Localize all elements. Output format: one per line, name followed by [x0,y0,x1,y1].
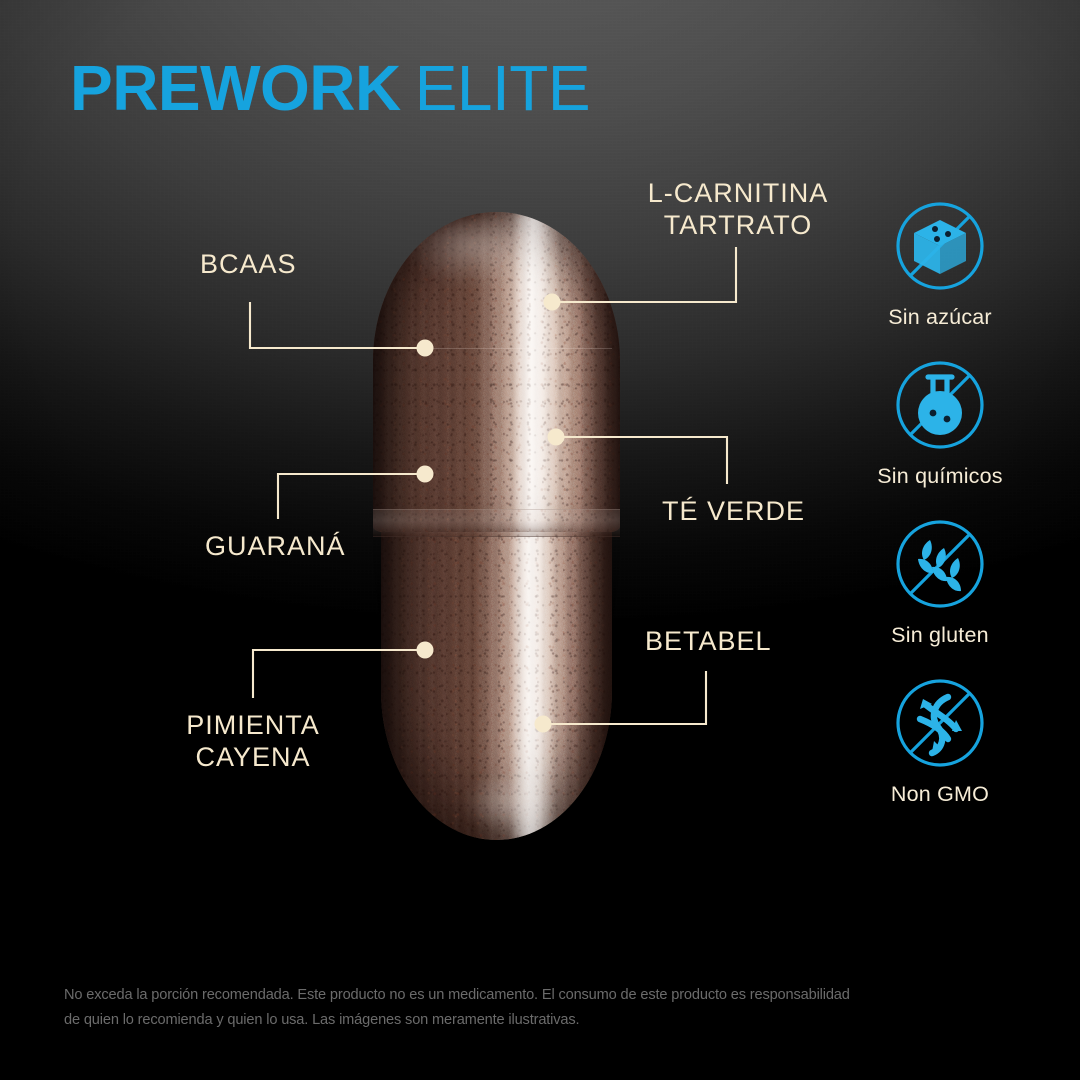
dna-icon [890,673,990,773]
benefit-label-sin-gluten: Sin gluten [862,623,1018,648]
benefit-badges: Sin azúcar [862,196,1018,832]
page-title: PREWORKELITE [70,56,590,120]
callout-label-guarana: GUARANÁ [205,531,346,563]
capsule-bottom-gloss [436,761,565,830]
title-variant: ELITE [415,52,590,124]
callout-label-bcaas: BCAAS [200,249,297,281]
benefit-sin-gluten: Sin gluten [862,514,1018,648]
benefit-label-sin-azucar: Sin azúcar [862,305,1018,330]
callout-label-te-verde: TÉ VERDE [662,496,805,528]
capsule-fill-line [381,348,612,349]
callout-label-betabel: BETABEL [645,626,772,658]
capsule-cap [373,212,620,532]
callout-label-pimienta-cayena: PIMIENTA CAYENA [178,710,328,774]
capsule-cap-right-shading [580,212,620,532]
benefit-sin-azucar: Sin azúcar [862,196,1018,330]
wheat-icon [890,514,990,614]
legal-disclaimer: No exceda la porción recomendada. Este p… [64,983,854,1033]
product-infographic: PREWORKELITE [0,0,1080,1080]
capsule-dome-gloss [400,217,573,313]
flask-icon [890,355,990,455]
title-brand: PREWORK [70,52,401,124]
benefit-label-non-gmo: Non GMO [862,782,1018,807]
sugar-cube-icon [890,196,990,296]
callout-label-lcarnitina-tartrato: L-CARNITINA TARTRATO [647,178,829,242]
product-capsule [373,212,620,840]
benefit-sin-quimicos: Sin químicos [862,355,1018,489]
benefit-label-sin-quimicos: Sin químicos [862,464,1018,489]
benefit-non-gmo: Non GMO [862,673,1018,807]
